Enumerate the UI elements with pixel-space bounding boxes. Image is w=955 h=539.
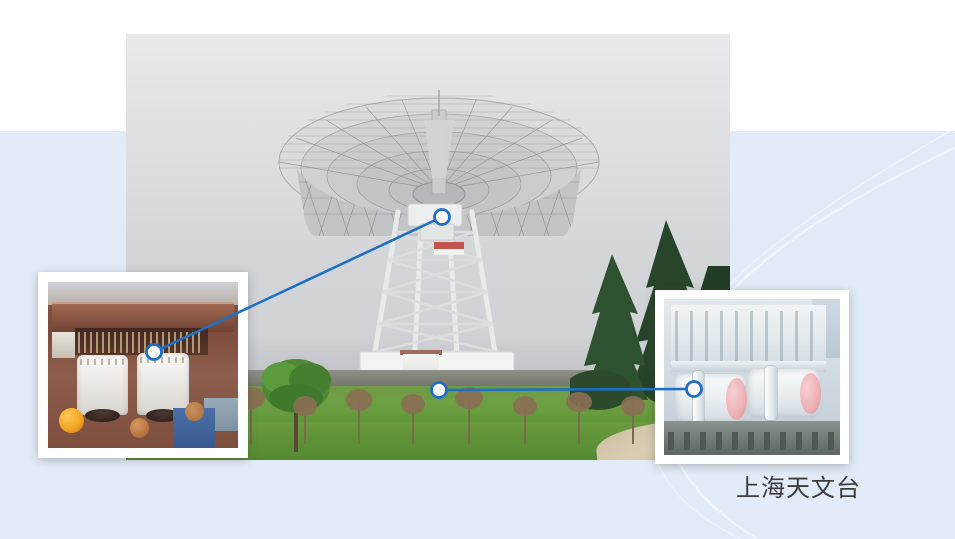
inset-left-photo-frame bbox=[38, 272, 248, 458]
inset-left-image bbox=[48, 282, 238, 448]
inset-right-image bbox=[664, 299, 840, 455]
drive-unit-right-a bbox=[675, 374, 745, 424]
inset-right-photo-frame bbox=[655, 290, 849, 464]
drive-unit-left-b bbox=[137, 353, 188, 414]
slide-canvas: 上海天文台 bbox=[0, 0, 955, 539]
drive-unit-right-b bbox=[748, 369, 818, 417]
photo-caption: 上海天文台 bbox=[736, 468, 861, 503]
drive-unit-left-a bbox=[77, 355, 128, 415]
